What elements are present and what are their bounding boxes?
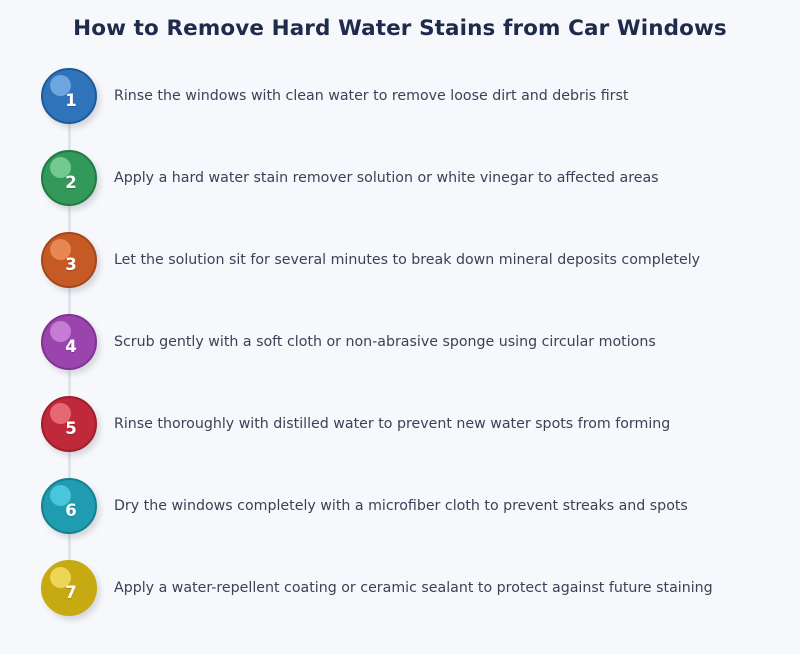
step-badge-wrapper: 3 bbox=[41, 230, 105, 290]
step-number-badge[interactable]: 1 bbox=[41, 68, 97, 124]
step-badge-wrapper: 7 bbox=[41, 558, 105, 618]
step-item: 1Rinse the windows with clean water to r… bbox=[0, 66, 800, 126]
step-badge-wrapper: 2 bbox=[41, 148, 105, 208]
step-item: 5Rinse thoroughly with distilled water t… bbox=[0, 394, 800, 454]
step-number-label: 7 bbox=[43, 562, 99, 618]
step-number-label: 5 bbox=[43, 398, 99, 454]
step-list: 1Rinse the windows with clean water to r… bbox=[0, 0, 800, 654]
step-item: 3Let the solution sit for several minute… bbox=[0, 230, 800, 290]
step-number-label: 4 bbox=[43, 316, 99, 372]
step-number-label: 2 bbox=[43, 152, 99, 208]
step-description: Scrub gently with a soft cloth or non-ab… bbox=[114, 312, 656, 372]
step-number-label: 3 bbox=[43, 234, 99, 290]
step-number-badge[interactable]: 7 bbox=[41, 560, 97, 616]
step-item: 6Dry the windows completely with a micro… bbox=[0, 476, 800, 536]
step-number-label: 6 bbox=[43, 480, 99, 536]
step-description: Let the solution sit for several minutes… bbox=[114, 230, 700, 290]
step-item: 2Apply a hard water stain remover soluti… bbox=[0, 148, 800, 208]
step-number-badge[interactable]: 4 bbox=[41, 314, 97, 370]
step-number-label: 1 bbox=[43, 70, 99, 126]
step-item: 7Apply a water-repellent coating or cera… bbox=[0, 558, 800, 618]
infographic-root: How to Remove Hard Water Stains from Car… bbox=[0, 0, 800, 654]
step-badge-wrapper: 1 bbox=[41, 66, 105, 126]
step-number-badge[interactable]: 2 bbox=[41, 150, 97, 206]
step-badge-wrapper: 5 bbox=[41, 394, 105, 454]
step-badge-wrapper: 6 bbox=[41, 476, 105, 536]
step-item: 4Scrub gently with a soft cloth or non-a… bbox=[0, 312, 800, 372]
step-description: Rinse the windows with clean water to re… bbox=[114, 66, 628, 126]
step-number-badge[interactable]: 5 bbox=[41, 396, 97, 452]
step-description: Apply a hard water stain remover solutio… bbox=[114, 148, 659, 208]
step-badge-wrapper: 4 bbox=[41, 312, 105, 372]
step-number-badge[interactable]: 3 bbox=[41, 232, 97, 288]
step-number-badge[interactable]: 6 bbox=[41, 478, 97, 534]
step-description: Apply a water-repellent coating or ceram… bbox=[114, 558, 713, 618]
step-description: Dry the windows completely with a microf… bbox=[114, 476, 688, 536]
step-description: Rinse thoroughly with distilled water to… bbox=[114, 394, 670, 454]
